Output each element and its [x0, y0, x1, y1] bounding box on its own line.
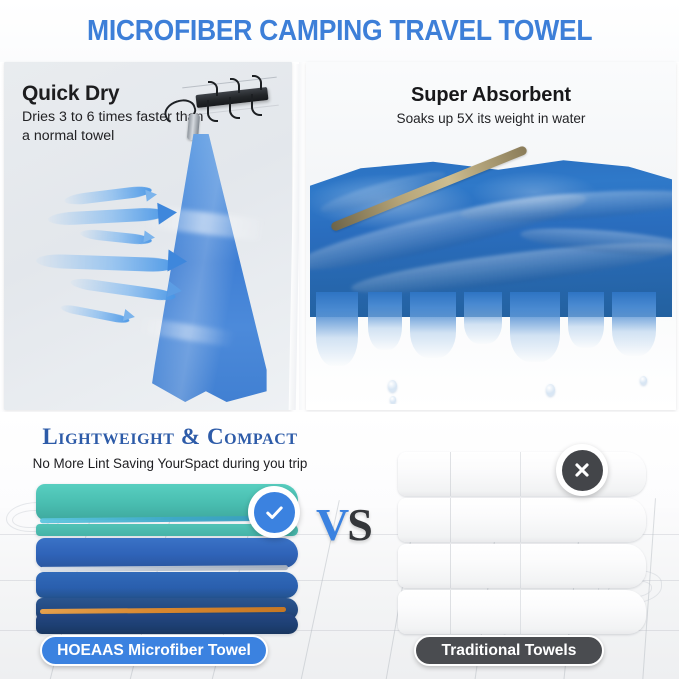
x-badge-circle: [562, 450, 603, 491]
white-towel-3: [398, 544, 646, 588]
hook-1: [208, 81, 218, 96]
hook-2-lower: [229, 97, 240, 119]
panel-super-absorbent: Super Absorbent Soaks up 5X its weight i…: [306, 62, 676, 410]
check-icon: [263, 501, 286, 524]
hook-2: [230, 78, 240, 93]
dark-navy-towel: [36, 614, 298, 634]
hook-3: [252, 75, 262, 90]
x-icon: [571, 459, 593, 481]
panel-divider-gap: [299, 62, 305, 410]
royal-blue-towel-trim: [40, 565, 288, 572]
royal-blue-towel: [36, 538, 298, 568]
quick-dry-heading: Quick Dry: [22, 82, 119, 106]
traditional-label-text: Traditional Towels: [442, 642, 577, 660]
panel-quick-dry: Quick Dry Dries 3 to 6 times faster than…: [4, 62, 292, 410]
comparison-section: Lightweight & Compact No More Lint Savin…: [0, 412, 679, 679]
check-badge-circle: [254, 492, 295, 533]
hook-1-lower: [207, 100, 218, 122]
microfiber-label-pill: HOEAAS Microfiber Towel: [40, 635, 268, 666]
title-banner: MICROFIBER CAMPING TRAVEL TOWEL: [0, 0, 679, 62]
water-drip-icon: [310, 292, 672, 404]
airflow-arrows-icon: [26, 180, 206, 360]
comparison-subtext: No More Lint Saving YourSpact during you…: [0, 456, 340, 471]
versus-label: VS: [316, 498, 371, 551]
hook-rack-icon: [186, 74, 278, 126]
white-towel-1: [398, 452, 646, 496]
versus-s: S: [347, 499, 371, 550]
product-infographic: MICROFIBER CAMPING TRAVEL TOWEL Quick Dr…: [0, 0, 679, 679]
feature-panels-row: Quick Dry Dries 3 to 6 times faster than…: [0, 62, 679, 412]
hook-3-lower: [251, 94, 262, 116]
traditional-label-pill: Traditional Towels: [414, 635, 604, 666]
white-towel-4: [398, 590, 646, 634]
x-badge: [556, 444, 608, 496]
super-absorbent-heading: Super Absorbent: [306, 84, 676, 107]
super-absorbent-subtext: Soaks up 5X its weight in water: [306, 111, 676, 126]
medium-blue-towel: [36, 572, 298, 598]
check-badge: [248, 486, 300, 538]
microfiber-label-text: HOEAAS Microfiber Towel: [57, 642, 251, 660]
versus-v: V: [316, 499, 347, 550]
comparison-heading: Lightweight & Compact: [0, 424, 340, 450]
white-towel-2: [398, 498, 646, 542]
traditional-towel-stack: [398, 452, 646, 638]
microfiber-towel-stack: [36, 484, 298, 632]
page-title: MICROFIBER CAMPING TRAVEL TOWEL: [87, 15, 592, 48]
